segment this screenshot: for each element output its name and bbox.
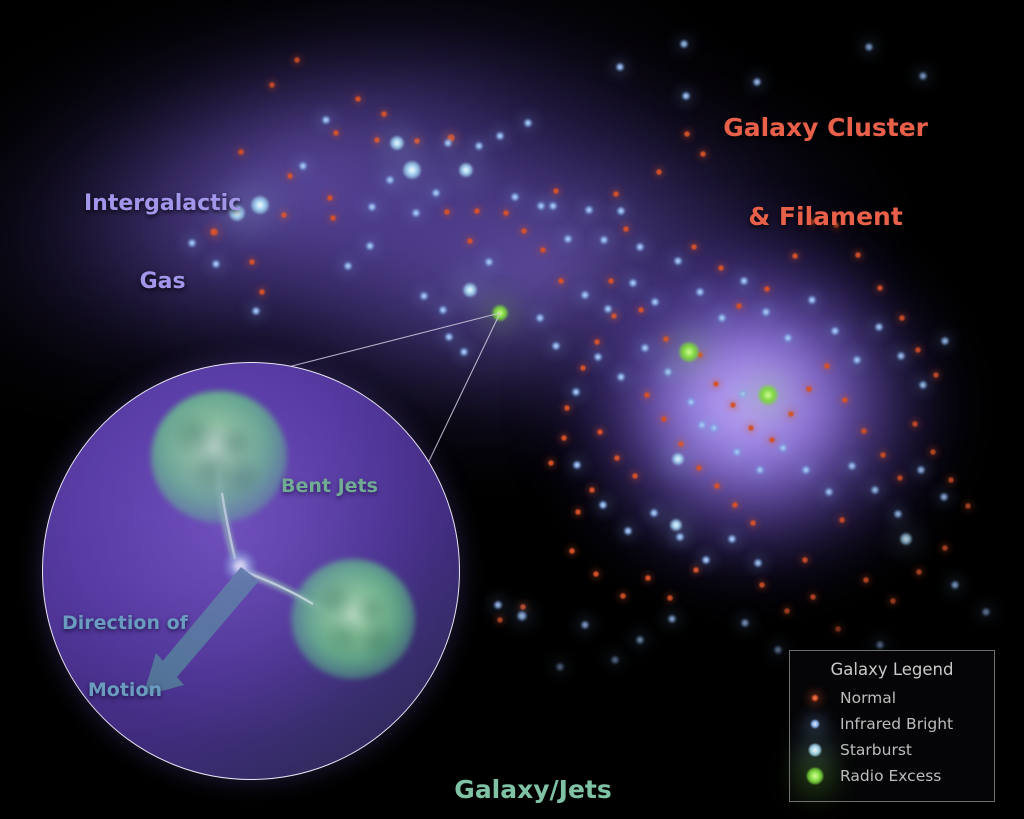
legend-swatch-normal <box>790 685 840 711</box>
inset-inner-shading <box>43 363 459 779</box>
legend-title: Galaxy Legend <box>790 660 994 679</box>
legend-row-radio-excess: Radio Excess <box>790 763 994 789</box>
legend-row-infrared-bright: Infrared Bright <box>790 711 994 737</box>
jet-lobe-upper-texture <box>161 403 273 509</box>
legend-label: Radio Excess <box>840 767 941 785</box>
galaxy-legend: Galaxy Legend NormalInfrared BrightStarb… <box>789 650 995 802</box>
legend-swatch-infrared-bright <box>790 711 840 737</box>
legend-dot-icon <box>811 720 820 729</box>
legend-label: Starburst <box>840 741 912 759</box>
inset-magnifier-circle <box>42 362 460 780</box>
legend-label: Normal <box>840 689 896 707</box>
legend-swatch-radio-excess <box>790 763 840 789</box>
legend-dot-icon <box>807 768 824 785</box>
legend-swatch-starburst <box>790 737 840 763</box>
jet-streams <box>43 363 459 779</box>
legend-dot-icon <box>809 744 822 757</box>
legend-rows: NormalInfrared BrightStarburstRadio Exce… <box>790 685 994 789</box>
jet-lobe-upper <box>151 391 287 523</box>
direction-of-motion-arrow <box>43 363 459 779</box>
legend-label: Infrared Bright <box>840 715 953 733</box>
legend-dot-icon <box>812 695 819 702</box>
astronomy-illustration: Galaxy Cluster & Filament Intergalactic … <box>0 0 1024 819</box>
galaxy-core <box>223 549 257 583</box>
legend-row-starburst: Starburst <box>790 737 994 763</box>
jet-lobe-lower <box>291 559 415 679</box>
jet-lobe-lower-texture <box>301 569 403 667</box>
legend-row-normal: Normal <box>790 685 994 711</box>
